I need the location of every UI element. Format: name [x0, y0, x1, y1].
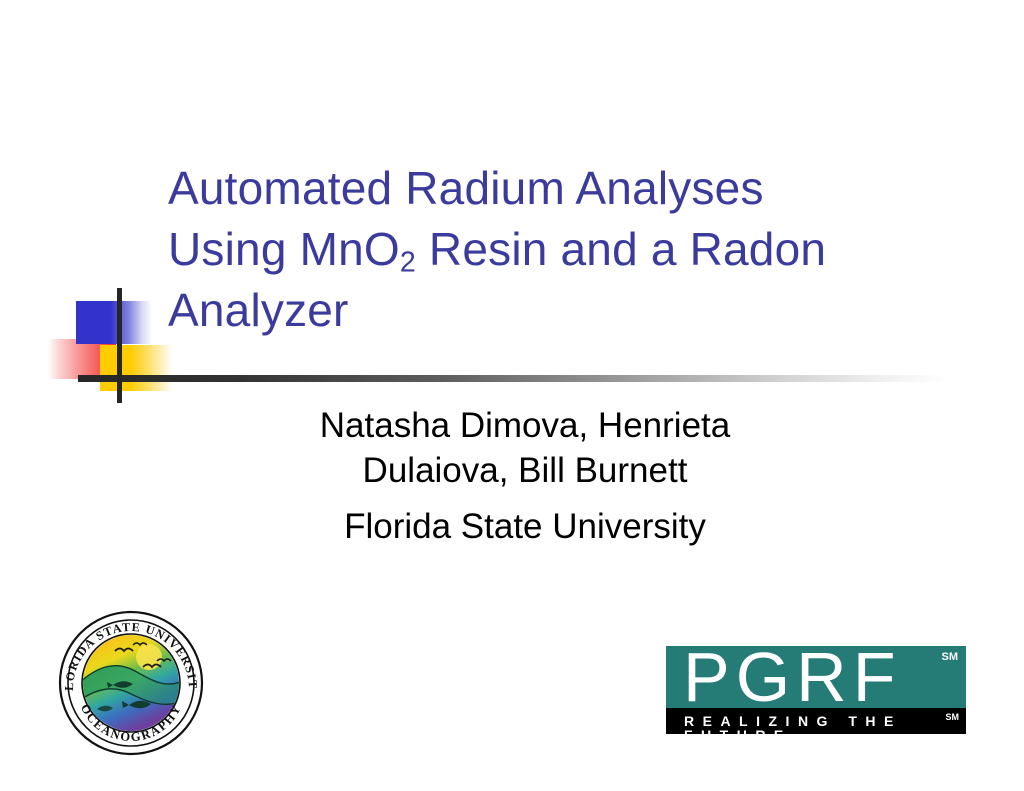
pgrf-tagline: REALIZING THE FUTURE [684, 714, 966, 742]
pgrf-servicemark-bar: SM [946, 712, 960, 722]
title-line-2: Using MnO2 Resin and a Radon [168, 219, 908, 280]
title-slide: Automated Radium Analyses Using MnO2 Res… [0, 0, 1024, 791]
pgrf-wordmark: PGRF [683, 643, 901, 711]
subscript-two: 2 [400, 246, 416, 278]
subtitle: Natasha Dimova, Henrieta Dulaiova, Bill … [205, 403, 845, 549]
deco-vertical-rule [117, 288, 122, 403]
title-line-3: Analyzer [168, 280, 908, 341]
deco-horizontal-rule [78, 375, 948, 382]
title-line-2-prefix: Using MnO [168, 223, 400, 275]
fsu-oceanography-seal: FLORIDA STATE UNIVERSITY OCEANOGRAPHY [57, 609, 205, 757]
deco-red-square [48, 339, 116, 379]
page-title: Automated Radium Analyses Using MnO2 Res… [168, 158, 908, 341]
authors-line-2: Dulaiova, Bill Burnett [205, 448, 845, 493]
pgrf-logo: PGRF SM REALIZING THE FUTURE SM [666, 646, 966, 736]
deco-blue-square [76, 301, 152, 344]
pgrf-logo-tagline-bar: REALIZING THE FUTURE SM [666, 708, 966, 734]
pgrf-servicemark-top: SM [942, 651, 959, 663]
authors-line-1: Natasha Dimova, Henrieta [205, 403, 845, 448]
title-line-2-suffix: Resin and a Radon [416, 223, 826, 275]
deco-yellow-square [100, 345, 172, 391]
title-line-1: Automated Radium Analyses [168, 158, 908, 219]
affiliation: Florida State University [205, 504, 845, 549]
pgrf-logo-teal-block: PGRF SM [666, 646, 966, 708]
